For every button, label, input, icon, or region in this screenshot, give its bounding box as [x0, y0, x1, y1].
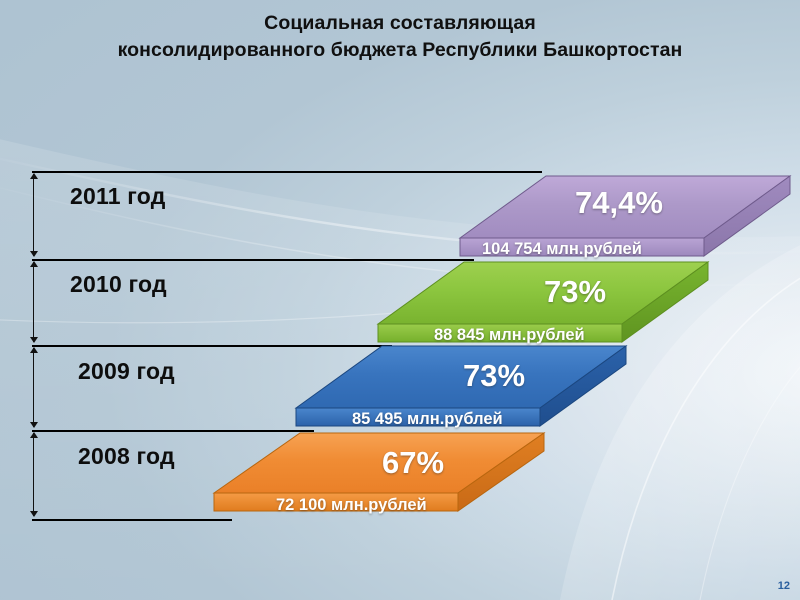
stepped-bar-chart: 2011 год 2010 год 2009 год 2008 год	[0, 0, 800, 600]
bar-2011-percent: 74,4%	[575, 185, 663, 221]
measure-arrow-2008	[33, 433, 46, 516]
bar-2011[interactable]: 74,4% 104 754 млн.рублей	[460, 170, 800, 275]
bar-2008-amount: 72 100 млн.рублей	[276, 496, 427, 515]
bar-2009-amount: 85 495 млн.рублей	[352, 410, 503, 429]
year-label-2008: 2008 год	[78, 443, 175, 470]
year-label-2011: 2011 год	[70, 183, 166, 210]
bar-2010-amount: 88 845 млн.рублей	[434, 326, 585, 345]
measure-arrow-2011	[33, 174, 46, 256]
measure-arrow-2009	[33, 348, 46, 427]
bar-2009-percent: 73%	[463, 358, 525, 394]
bar-2008-percent: 67%	[382, 445, 444, 481]
slide-canvas: Социальная составляющая консолидированно…	[0, 0, 800, 600]
page-number: 12	[778, 580, 790, 592]
measure-arrow-2010	[33, 262, 46, 342]
bar-2010-percent: 73%	[544, 274, 606, 310]
separator-rule-bottom	[32, 519, 232, 521]
year-label-2010: 2010 год	[70, 271, 167, 298]
year-label-2009: 2009 год	[78, 358, 175, 385]
bar-2011-amount: 104 754 млн.рублей	[482, 240, 642, 259]
